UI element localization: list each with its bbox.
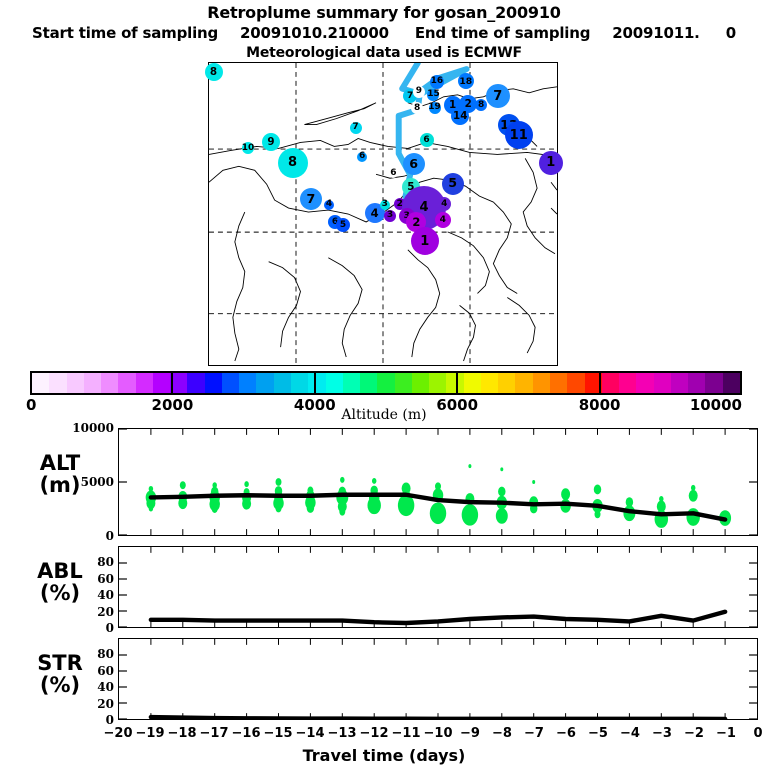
alt-bubble: [496, 508, 508, 524]
cluster-marker: 1: [411, 227, 439, 255]
cluster-marker: 9: [262, 133, 280, 151]
alt-bubble: [244, 481, 248, 487]
cluster-marker: 3: [380, 200, 390, 210]
alt-bubble: [689, 490, 698, 502]
colorbar-segment: [326, 373, 343, 393]
colorbar-segment: [395, 373, 412, 393]
cluster-marker: 5: [336, 218, 350, 232]
colorbar-segment: [187, 373, 204, 393]
colorbar-segment: [671, 373, 688, 393]
str-series-line: [151, 717, 725, 719]
cluster-marker: 8: [411, 102, 423, 114]
colorbar-segment: [533, 373, 550, 393]
y-tick-label: 0: [58, 713, 114, 727]
cluster-marker: 9: [413, 86, 425, 98]
colorbar-divider: [456, 371, 458, 395]
x-tick-label: −20: [104, 726, 133, 741]
x-tick-label: −15: [264, 726, 293, 741]
x-tick-label: −4: [620, 726, 640, 741]
colorbar-segment: [308, 373, 325, 393]
cluster-marker: 4: [324, 200, 334, 210]
cluster-marker: 6: [388, 168, 398, 178]
retroplume-map: 8910876746547981615191812148713116655613…: [208, 62, 558, 366]
cluster-marker: 1: [539, 151, 563, 175]
colorbar-axis-label: Altitude (m): [0, 407, 768, 423]
cluster-marker: 10: [242, 142, 254, 154]
x-tick-label: −17: [200, 726, 229, 741]
colorbar-segment: [498, 373, 515, 393]
met-data-note: Meteorological data used is ECMWF: [0, 45, 768, 61]
x-tick-label: −6: [556, 726, 576, 741]
alt-bubble: [686, 508, 699, 526]
colorbar-segment: [291, 373, 308, 393]
x-tick-label: −2: [684, 726, 704, 741]
alt-label-line1: ALT: [8, 452, 112, 474]
alt-bubble: [242, 498, 251, 510]
alt-bubble: [468, 464, 471, 468]
colorbar-segment: [256, 373, 273, 393]
x-tick-label: −3: [652, 726, 672, 741]
x-tick-label: −7: [524, 726, 544, 741]
colorbar-segment: [705, 373, 722, 393]
colorbar-segment: [205, 373, 222, 393]
cluster-marker: 15: [427, 89, 439, 101]
colorbar-segment: [118, 373, 135, 393]
colorbar-segment: [136, 373, 153, 393]
cluster-marker: 14: [451, 107, 469, 125]
x-tick-label: −16: [232, 726, 261, 741]
y-tick-label: 10000: [58, 421, 114, 435]
altitude-colorbar: [30, 371, 742, 395]
cluster-marker: 8: [278, 148, 308, 178]
cluster-marker: 7: [486, 84, 510, 108]
colorbar-segment: [550, 373, 567, 393]
end-time-label: End time of sampling: [415, 24, 590, 42]
x-tick-label: −5: [588, 726, 608, 741]
end-time-value: 20091011.: [612, 24, 699, 42]
alt-bubble: [340, 477, 344, 483]
x-tick-label: −8: [492, 726, 512, 741]
y-tick-label: 20: [58, 605, 114, 619]
colorbar-segment: [429, 373, 446, 393]
colorbar-segment: [239, 373, 256, 393]
colorbar-segment: [464, 373, 481, 393]
colorbar-segment: [153, 373, 170, 393]
x-tick-label: −10: [424, 726, 453, 741]
end-time-extra: 0: [726, 24, 736, 42]
abl-chart-panel: [118, 546, 758, 628]
abl-chart-svg: [119, 547, 757, 627]
x-tick-label: −9: [460, 726, 480, 741]
alt-bubble: [212, 505, 218, 513]
colorbar-segment: [101, 373, 118, 393]
colorbar-segment: [688, 373, 705, 393]
cluster-marker: 6: [420, 133, 434, 147]
x-tick-label: −13: [328, 726, 357, 741]
str-chart-panel: [118, 638, 758, 720]
alt-bubble: [149, 506, 153, 512]
cluster-marker: 8: [475, 99, 487, 111]
colorbar-segment: [723, 373, 740, 393]
cluster-marker: 5: [442, 173, 464, 195]
colorbar-segment: [222, 373, 239, 393]
x-tick-label: −14: [296, 726, 325, 741]
cluster-marker: 4: [437, 197, 451, 211]
alt-bubble: [500, 467, 503, 471]
x-tick-label: −1: [716, 726, 736, 741]
alt-chart-svg: [119, 429, 757, 535]
cluster-marker: 6: [403, 153, 425, 175]
colorbar-segment: [412, 373, 429, 393]
cluster-marker: 19: [429, 102, 441, 114]
y-tick-label: 60: [58, 572, 114, 586]
cluster-marker: 18: [458, 73, 474, 89]
colorbar-segment: [343, 373, 360, 393]
alt-bubble: [276, 478, 282, 486]
alt-bubble: [430, 502, 446, 524]
x-tick-label: −18: [168, 726, 197, 741]
start-time-label: Start time of sampling: [32, 24, 218, 42]
colorbar-segment: [84, 373, 101, 393]
colorbar-segment: [619, 373, 636, 393]
colorbar-divider: [171, 371, 173, 395]
y-tick-label: 80: [58, 555, 114, 569]
cluster-marker: 11: [505, 121, 533, 149]
colorbar-segment: [602, 373, 619, 393]
cluster-marker: 7: [350, 122, 362, 134]
colorbar-segment: [567, 373, 584, 393]
alt-bubble: [595, 510, 601, 518]
colorbar-segment: [446, 373, 463, 393]
x-axis-label: Travel time (days): [0, 746, 768, 765]
colorbar-segment: [274, 373, 291, 393]
colorbar-segment: [360, 373, 377, 393]
alt-bubble: [532, 480, 535, 484]
cluster-marker: 4: [435, 212, 451, 228]
alt-bubble: [180, 481, 186, 489]
alt-bubble: [561, 488, 570, 500]
alt-bubble: [372, 478, 376, 484]
sampling-time-row: Start time of sampling20091010.210000End…: [0, 24, 768, 42]
x-tick-label: −11: [392, 726, 421, 741]
start-time-value: 20091010.210000: [240, 24, 389, 42]
y-tick-label: 0: [58, 529, 114, 543]
alt-bubble: [367, 496, 380, 514]
y-tick-label: 60: [58, 664, 114, 678]
cluster-marker: 3: [384, 210, 396, 222]
y-tick-label: 40: [58, 680, 114, 694]
alt-bubble: [594, 485, 601, 495]
str-chart-svg: [119, 639, 757, 719]
y-tick-label: 40: [58, 588, 114, 602]
abl-series-line: [151, 612, 725, 623]
alt-bubble: [339, 508, 345, 516]
y-tick-label: 80: [58, 647, 114, 661]
y-tick-label: 5000: [58, 475, 114, 489]
cluster-marker: 7: [300, 188, 322, 210]
y-tick-label: 0: [58, 621, 114, 635]
colorbar-segment: [49, 373, 66, 393]
colorbar-segment: [636, 373, 653, 393]
colorbar-segment: [481, 373, 498, 393]
cluster-marker: 6: [357, 152, 367, 162]
cluster-marker: 16: [430, 75, 444, 89]
x-tick-label: 0: [753, 726, 762, 741]
colorbar-segment: [377, 373, 394, 393]
y-tick-label: 20: [58, 697, 114, 711]
cluster-marker: 8: [205, 63, 223, 81]
alt-bubble: [498, 487, 505, 497]
colorbar-segment: [67, 373, 84, 393]
alt-chart-panel: [118, 428, 758, 536]
colorbar-segment: [654, 373, 671, 393]
x-tick-label: −12: [360, 726, 389, 741]
colorbar-divider: [599, 371, 601, 395]
alt-bubble: [276, 505, 282, 513]
page-title: Retroplume summary for gosan_200910: [0, 3, 768, 22]
alt-bubble: [462, 504, 478, 526]
alt-bubble: [307, 503, 314, 513]
colorbar-segment: [32, 373, 49, 393]
colorbar-segment: [515, 373, 532, 393]
colorbar-divider: [314, 371, 316, 395]
x-tick-label: −19: [136, 726, 165, 741]
